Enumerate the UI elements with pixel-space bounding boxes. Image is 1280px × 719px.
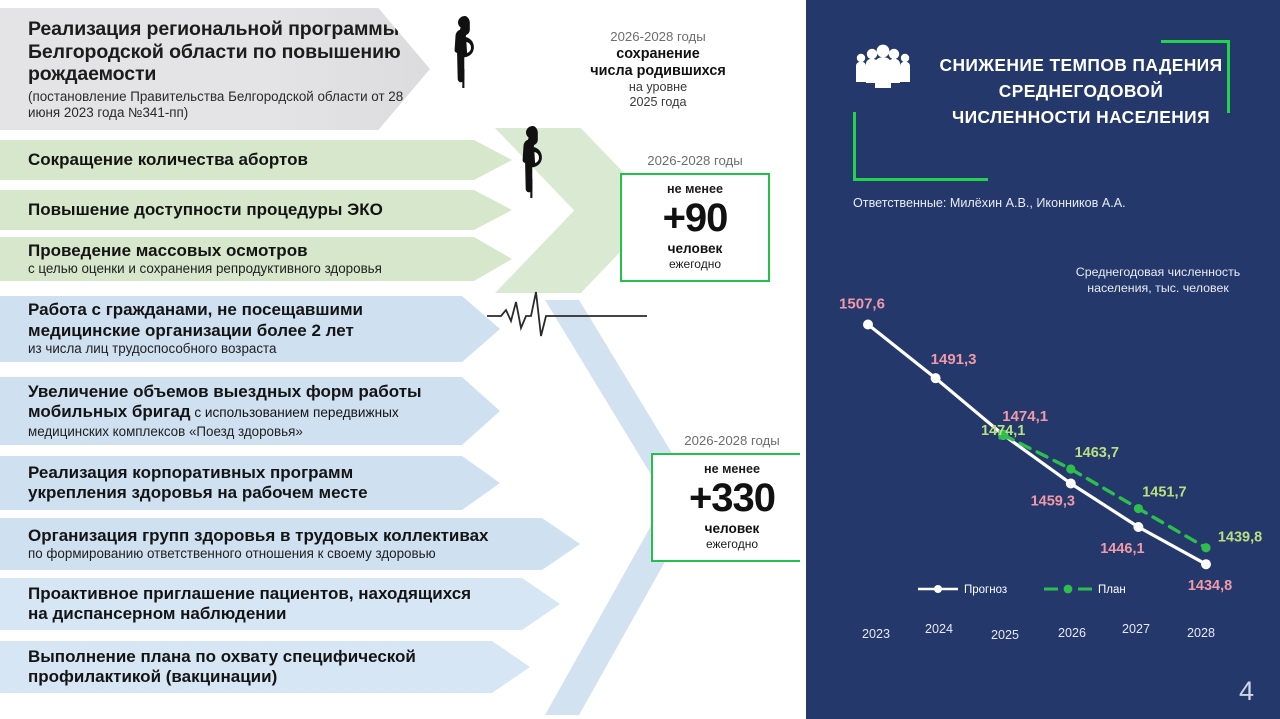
svg-text:1507,6: 1507,6 [839,295,885,312]
list-item-blue-2[interactable]: Увеличение объемов выездных форм работы … [0,377,500,445]
page-title: Реализация региональной программы Белгор… [28,18,430,86]
callout-box: не менее +90 человек ежегодно [620,173,770,282]
callout-years: 2026-2028 годы [651,432,800,449]
list-item-title: Увеличение объемов выездных форм работы … [28,382,430,424]
list-item-note: по формированию ответственного отношения… [28,546,510,562]
svg-text:1451,7: 1451,7 [1142,485,1186,501]
svg-text:1474,1: 1474,1 [981,423,1025,439]
list-item-blue-3[interactable]: Реализация корпоративных программ укрепл… [0,456,500,510]
callout-births: 2026-2028 годы сохранение числа родивших… [568,28,748,110]
people-group-icon [853,44,913,90]
callout-plus-90: 2026-2028 годы не менее +90 человек ежег… [620,152,770,282]
program-header: Реализация региональной программы Белгор… [0,8,430,130]
list-item-blue-4[interactable]: Организация групп здоровья в трудовых ко… [0,518,580,570]
list-item-title: Проведение массовых осмотров [28,241,442,262]
axis-tick-2027: 2027 [1122,622,1150,636]
callout-box: не менее +330 человек ежегодно [651,453,800,562]
list-item-note: медицинских комплексов «Поезд здоровья» [28,424,430,440]
callout-line-4: 2025 года [568,95,748,110]
svg-text:1439,8: 1439,8 [1218,530,1262,546]
list-item-blue-6[interactable]: Выполнение плана по охвату специфической… [0,641,530,693]
axis-tick-2025: 2025 [991,628,1019,642]
callout-period: ежегодно [669,537,795,551]
callout-value: +90 [638,197,752,239]
program-header-subtitle: (постановление Правительства Белгородско… [28,89,430,121]
axis-tick-2024: 2024 [925,622,953,636]
callout-unit: человек [638,241,752,257]
right-panel: СНИЖЕНИЕ ТЕМПОВ ПАДЕНИЯ СРЕДНЕГОДОВОЙ ЧИ… [806,0,1280,719]
axis-tick-2026: 2026 [1058,626,1086,640]
list-item-title: Повышение доступности процедуры ЭКО [28,200,442,221]
heartbeat-icon [487,288,647,338]
callout-prefix: не менее [638,182,752,197]
responsible-persons: Ответственные: Милёхин А.В., Иконников А… [853,196,1126,210]
page-number: 4 [1239,676,1254,707]
list-item-title: Сокращение количества абортов [28,150,442,171]
chart-legend: Прогноз План [916,578,1176,600]
list-item-note: из числа лиц трудоспособного возраста [28,341,430,357]
list-item-green-3[interactable]: Проведение массовых осмотров с целью оце… [0,237,512,281]
right-panel-title: СНИЖЕНИЕ ТЕМПОВ ПАДЕНИЯ СРЕДНЕГОДОВОЙ ЧИ… [931,52,1231,130]
chart-x-axis: 2023 2024 2025 2026 2027 2028 [806,625,1280,651]
list-item-blue-1[interactable]: Работа с гражданами, не посещавшими меди… [0,296,500,362]
svg-text:1446,1: 1446,1 [1100,541,1144,557]
svg-text:План: План [1098,584,1126,596]
callout-years: 2026-2028 годы [620,152,770,169]
axis-tick-2023: 2023 [862,627,890,641]
svg-text:1491,3: 1491,3 [931,351,977,368]
list-item-title: Реализация корпоративных программ укрепл… [28,463,430,504]
svg-text:1463,7: 1463,7 [1075,445,1119,461]
callout-years: 2026-2028 годы [568,28,748,46]
left-panel: Реализация региональной программы Белгор… [0,0,800,719]
callout-plus-330: 2026-2028 годы не менее +330 человек еже… [651,432,800,562]
callout-period: ежегодно [638,257,752,271]
list-item-title: Работа с гражданами, не посещавшими меди… [28,300,430,341]
list-item-title: Выполнение плана по охвату специфической… [28,647,460,688]
pregnant-woman-icon [444,14,484,90]
callout-line-1: сохранение [568,46,748,63]
callout-line-3: на уровне [568,80,748,95]
list-item-title: Проактивное приглашение пациентов, наход… [28,584,490,625]
list-item-green-1[interactable]: Сокращение количества абортов [0,140,512,180]
list-item-title-inline: с использованием передвижных [191,405,399,420]
axis-tick-2028: 2028 [1187,626,1215,640]
list-item-note: с целью оценки и сохранения репродуктивн… [28,261,442,277]
list-item-blue-5[interactable]: Проактивное приглашение пациентов, наход… [0,578,560,630]
callout-value: +330 [669,477,795,519]
slide: Реализация региональной программы Белгор… [0,0,1280,719]
callout-unit: человек [669,521,795,537]
list-item-green-2[interactable]: Повышение доступности процедуры ЭКО [0,190,512,230]
svg-text:1459,3: 1459,3 [1031,494,1075,510]
list-item-title: Организация групп здоровья в трудовых ко… [28,526,510,547]
pregnant-woman-icon-2 [512,124,552,200]
callout-prefix: не менее [669,462,795,477]
callout-line-2: числа родившихся [568,63,748,80]
svg-text:1434,8: 1434,8 [1188,578,1232,594]
svg-text:Прогноз: Прогноз [964,584,1007,596]
